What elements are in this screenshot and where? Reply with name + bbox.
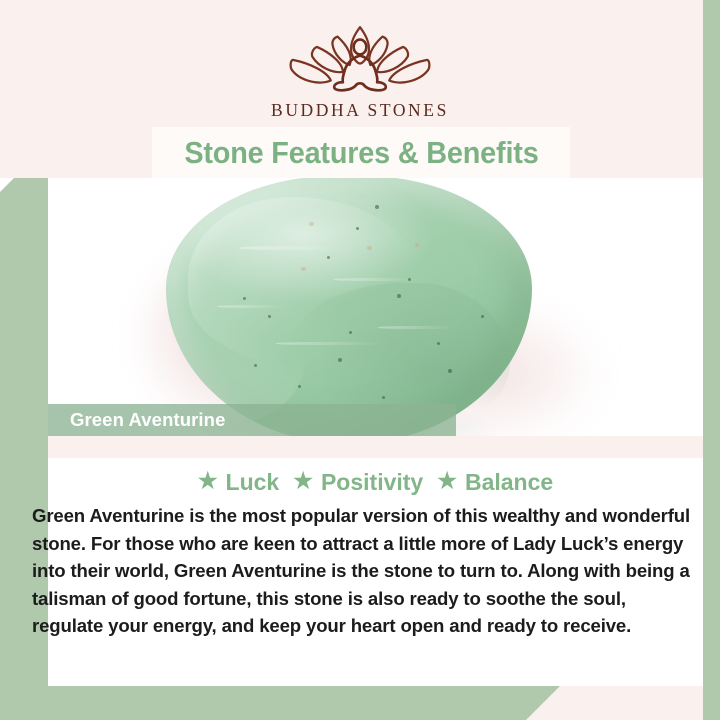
divider-pink-strip bbox=[48, 436, 703, 458]
page-title: Stone Features & Benefits bbox=[184, 135, 538, 171]
keyword-item: ★ Luck bbox=[198, 469, 279, 496]
brand-logo: BUDDHA STONES bbox=[0, 22, 720, 127]
keyword-label: Positivity bbox=[321, 469, 423, 496]
title-panel: Stone Features & Benefits bbox=[152, 127, 570, 179]
product-name-band: Green Aventurine bbox=[48, 404, 456, 436]
description-text: Green Aventurine is the most popular ver… bbox=[32, 502, 692, 640]
keyword-item: ★ Positivity bbox=[279, 469, 423, 496]
stone-feature-poster: BUDDHA STONES Stone Features & Benefits bbox=[0, 0, 720, 720]
keyword-label: Balance bbox=[465, 469, 553, 496]
benefit-keywords: ★ Luck ★ Positivity ★ Balance bbox=[48, 466, 703, 498]
star-icon: ★ bbox=[437, 470, 457, 492]
product-image: Green Aventurine bbox=[48, 178, 703, 440]
brand-name: BUDDHA STONES bbox=[271, 100, 449, 121]
star-icon: ★ bbox=[293, 470, 313, 492]
bottom-green-border bbox=[0, 686, 560, 720]
stone-body bbox=[166, 178, 532, 440]
star-icon: ★ bbox=[198, 470, 218, 492]
lotus-meditation-icon bbox=[274, 22, 446, 96]
keyword-label: Luck bbox=[226, 469, 280, 496]
product-name: Green Aventurine bbox=[70, 409, 225, 431]
keyword-item: ★ Balance bbox=[423, 469, 553, 496]
green-aventurine-stone bbox=[166, 178, 532, 440]
